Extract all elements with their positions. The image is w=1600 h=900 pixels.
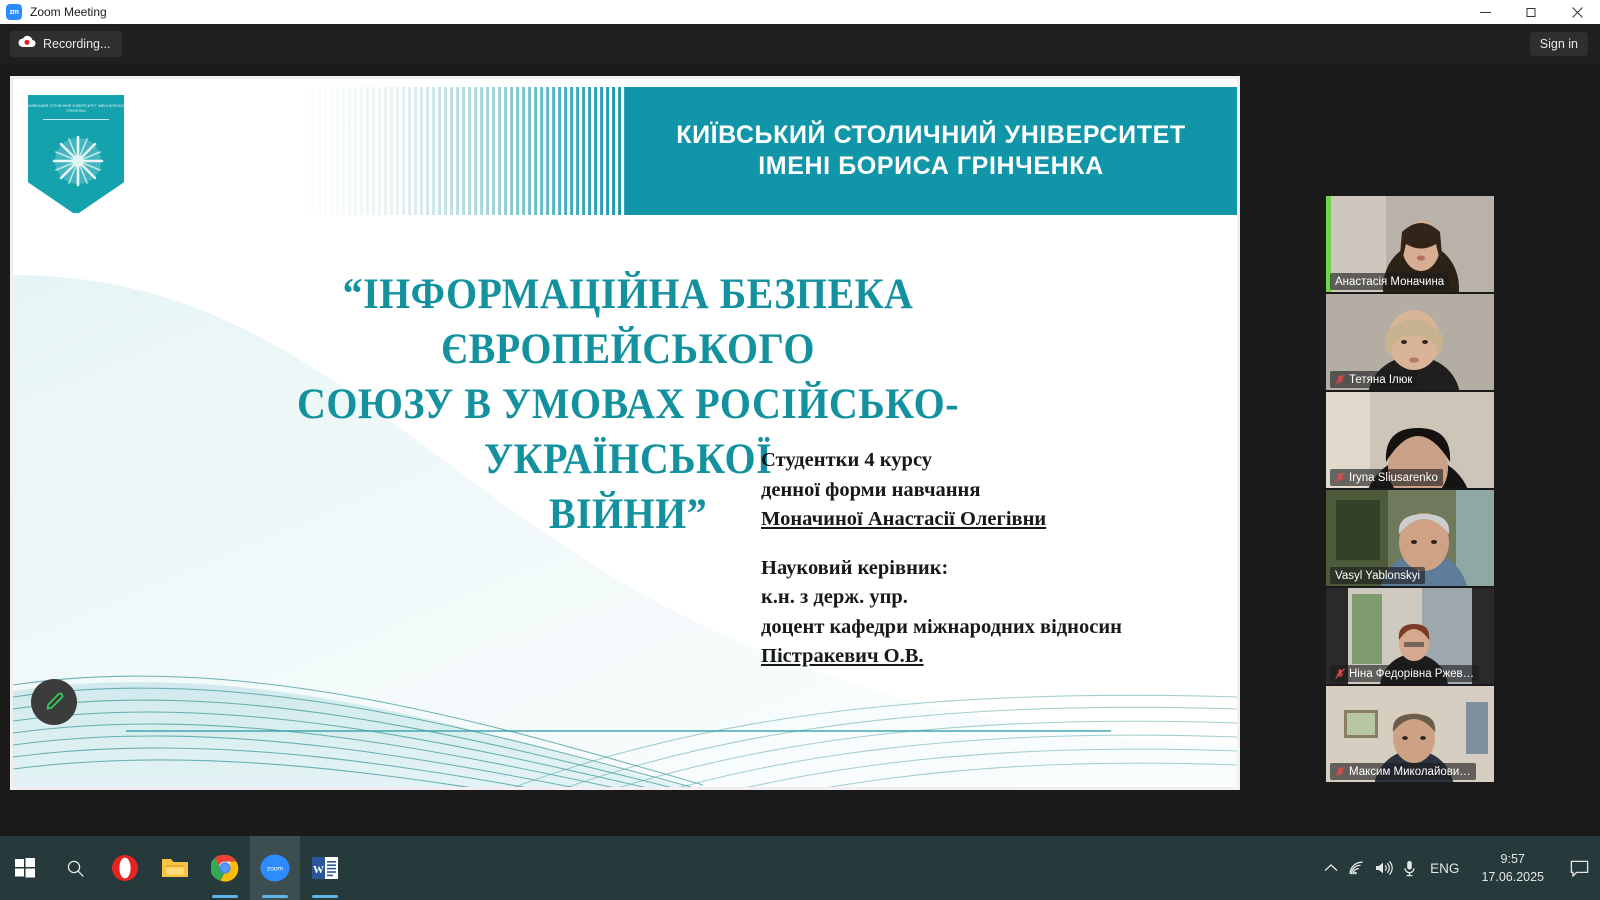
crest-text: КИЇВСЬКИЙ СТОЛИЧНИЙ УНІВЕРСИТЕТ ІМЕНІ БО… [28,104,124,114]
crest-divider [43,119,108,120]
taskbar-item-word[interactable]: W [300,836,350,900]
maximize-button[interactable] [1508,0,1554,24]
start-button[interactable] [0,836,50,900]
participant-name-bar: Анастасія Моначина [1330,273,1449,290]
participant-tile[interactable]: Vasyl Yablonskyi [1326,490,1494,586]
wifi-icon [1348,861,1365,875]
system-tray: ENG 9:57 17.06.2025 [1324,836,1600,900]
microphone-muted-icon [1335,668,1345,679]
microphone-muted-icon [1335,766,1345,777]
opera-icon [111,854,139,882]
notification-center-button[interactable] [1562,836,1596,900]
window-title: Zoom Meeting [30,5,107,19]
participant-name: Максим Миколайови… [1349,766,1471,778]
microphone-button[interactable] [1403,860,1416,877]
language-indicator[interactable]: ENG [1426,861,1463,876]
university-name-banner: КИЇВСЬКИЙ СТОЛИЧНИЙ УНІВЕРСИТЕТ ІМЕНІ БО… [625,87,1237,215]
participant-name-bar: Vasyl Yablonskyi [1330,567,1425,584]
windows-start-icon [15,858,35,878]
crest-emblem-icon [28,125,128,203]
taskbar-item-zoom[interactable]: zoom [250,836,300,900]
stripe-pattern [303,87,633,215]
notification-icon [1570,860,1589,877]
recording-label: Recording... [43,37,110,51]
participant-tile[interactable]: Анастасія Моначина [1326,196,1494,292]
zoom-icon: zm [6,4,22,20]
taskbar-item-chrome[interactable] [200,836,250,900]
annotate-button[interactable] [31,679,77,725]
participant-filmstrip[interactable]: Анастасія Моначина Тетяна Ілюк [1326,196,1496,784]
windows-taskbar: zoom W [0,836,1600,900]
show-hidden-icons-button[interactable] [1324,863,1338,873]
presentation-slide: КИЇВСЬКИЙ СТОЛИЧНИЙ УНІВЕРСИТЕТ ІМЕНІ БО… [13,79,1237,787]
participant-name: Ніна Федорівна Ржев… [1349,668,1474,680]
participant-tile[interactable]: Тетяна Ілюк [1326,294,1494,390]
student-line-2: денної форми навчання [761,476,1231,506]
participant-name-bar: Максим Миколайови… [1330,763,1476,780]
slide-body-text: Студентки 4 курсу денної форми навчання … [761,446,1231,672]
zoom-icon: zoom [260,853,290,883]
slide-title-line1: “ІНФОРМАЦІЙНА БЕЗПЕКА ЄВРОПЕЙСЬКОГО [154,267,1103,377]
file-explorer-icon [161,856,189,880]
participant-tile[interactable]: Iryna Sliusarenko [1326,392,1494,488]
zoom-top-bar: Recording... Sign in [0,24,1600,64]
taskbar-item-opera[interactable] [100,836,150,900]
recording-cloud-icon [18,35,36,53]
participant-name-bar: Ніна Федорівна Ржев… [1330,665,1479,682]
recording-indicator[interactable]: Recording... [10,31,122,57]
minimize-button[interactable] [1462,0,1508,24]
chevron-up-icon [1324,863,1338,873]
advisor-degree: к.н. з держ. упр. [761,583,1231,613]
volume-icon [1375,861,1393,875]
window-controls [1462,0,1600,24]
student-name: Моначиної Анастасії Олегівни [761,505,1231,535]
student-line-1: Студентки 4 курсу [761,446,1231,476]
search-button[interactable] [50,836,100,900]
word-icon: W [312,855,338,881]
taskbar-item-file-explorer[interactable] [150,836,200,900]
advisor-name: Пістракевич О.В. [761,642,1231,672]
advisor-label: Науковий керівник: [761,554,1231,584]
sign-in-button[interactable]: Sign in [1530,32,1588,56]
search-icon [66,859,85,878]
participant-name: Тетяна Ілюк [1349,374,1412,386]
participant-name-bar: Тетяна Ілюк [1330,371,1417,388]
microphone-muted-icon [1335,472,1345,483]
participant-tile[interactable]: Ніна Федорівна Ржев… [1326,588,1494,684]
volume-button[interactable] [1375,861,1393,875]
clock-time: 9:57 [1481,850,1544,868]
participant-name: Iryna Sliusarenko [1349,472,1438,484]
university-name-line1: КИЇВСЬКИЙ СТОЛИЧНИЙ УНІВЕРСИТЕТ [676,121,1185,150]
pencil-annotate-icon [43,691,65,713]
shared-screen-frame: КИЇВСЬКИЙ СТОЛИЧНИЙ УНІВЕРСИТЕТ ІМЕНІ БО… [10,76,1240,790]
participant-name: Vasyl Yablonskyi [1335,570,1420,582]
clock[interactable]: 9:57 17.06.2025 [1473,850,1552,886]
university-name-line2: ІМЕНІ БОРИСА ГРІНЧЕНКА [758,152,1104,181]
svg-text:W: W [313,864,324,876]
microphone-muted-icon [1335,374,1345,385]
chrome-icon [211,854,239,882]
svg-text:zoom: zoom [267,866,283,873]
network-button[interactable] [1348,861,1365,875]
participant-tile[interactable]: Максим Миколайови… [1326,686,1494,782]
participant-name: Анастасія Моначина [1335,276,1444,288]
window-title-bar: zm Zoom Meeting [0,0,1600,24]
university-crest: КИЇВСЬКИЙ СТОЛИЧНИЙ УНІВЕРСИТЕТ ІМЕНІ БО… [26,93,126,215]
advisor-position: доцент кафедри міжнародних відносин [761,613,1231,643]
clock-date: 17.06.2025 [1481,868,1544,886]
participant-name-bar: Iryna Sliusarenko [1330,469,1443,486]
microphone-icon [1403,860,1416,877]
slide-header: КИЇВСЬКИЙ СТОЛИЧНИЙ УНІВЕРСИТЕТ ІМЕНІ БО… [13,79,1237,215]
body-spacer [761,535,1231,554]
close-button[interactable] [1554,0,1600,24]
meeting-stage: КИЇВСЬКИЙ СТОЛИЧНИЙ УНІВЕРСИТЕТ ІМЕНІ БО… [0,64,1600,836]
